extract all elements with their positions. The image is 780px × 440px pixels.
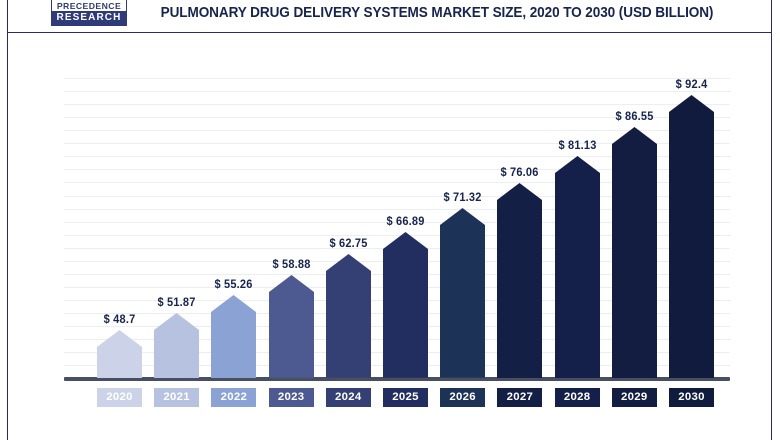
logo-line-1: PRECEDENCE [51,1,126,11]
bar-2021 [154,313,199,378]
value-label-2029: $ 86.55 [600,110,669,123]
value-label-2025: $ 66.89 [371,215,440,228]
bar-2027 [497,183,542,378]
value-label-2020: $ 48.7 [85,313,154,326]
x-axis-label-2021: 2021 [154,388,199,407]
value-label-2030: $ 92.4 [657,78,726,91]
chart-title: PULMONARY DRUG DELIVERY SYSTEMS MARKET S… [149,5,726,21]
gridline [64,91,730,92]
chart-header: PRECEDENCE RESEARCH PULMONARY DRUG DELIV… [7,0,772,33]
bar-2022 [211,295,256,378]
bar-2025 [383,232,428,378]
value-label-2027: $ 76.06 [485,166,554,179]
bar-2026 [440,208,485,378]
x-axis-label-2024: 2024 [326,388,371,407]
gridline [64,104,730,105]
x-axis-label-2029: 2029 [612,388,657,407]
value-label-2026: $ 71.32 [428,191,497,204]
gridline [64,78,730,79]
value-label-2024: $ 62.75 [314,237,383,250]
x-axis-label-2028: 2028 [555,388,600,407]
bar-2024 [326,254,371,378]
bar-2023 [269,275,314,378]
precedence-research-logo: PRECEDENCE RESEARCH [51,0,127,26]
x-axis-label-2023: 2023 [269,388,314,407]
value-label-2023: $ 58.88 [256,258,325,271]
logo-line-2: RESEARCH [52,11,126,25]
bar-2030 [669,95,714,378]
bar-2028 [555,156,600,378]
value-label-2028: $ 81.13 [542,139,611,152]
x-axis-label-2030: 2030 [669,388,714,407]
x-axis-label-2026: 2026 [440,388,485,407]
value-label-2022: $ 55.26 [199,278,268,291]
x-axis-label-2025: 2025 [383,388,428,407]
x-axis-label-2020: 2020 [97,388,142,407]
bar-2020 [97,330,142,378]
bar-2029 [612,127,657,379]
x-axis-label-2027: 2027 [497,388,542,407]
chart-page: PRECEDENCE RESEARCH PULMONARY DRUG DELIV… [0,0,780,440]
x-axis-label-2022: 2022 [211,388,256,407]
value-label-2021: $ 51.87 [142,296,211,309]
